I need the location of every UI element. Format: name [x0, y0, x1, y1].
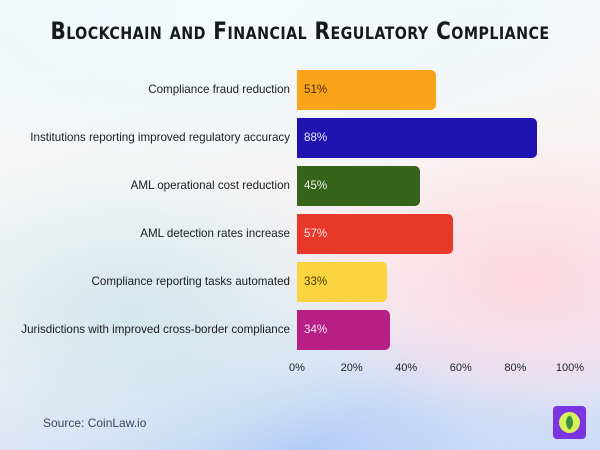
- infographic-canvas: Blockchain and Financial Regulatory Comp…: [0, 0, 600, 450]
- x-axis-tick-label: 40%: [395, 362, 417, 374]
- x-axis-tick-label: 60%: [450, 362, 472, 374]
- brand-logo[interactable]: [553, 406, 586, 439]
- bar-row: AML detection rates increase57%: [0, 214, 600, 254]
- bar-row: Institutions reporting improved regulato…: [0, 118, 600, 158]
- bar-value-label: 51%: [304, 70, 327, 110]
- bar-row: Compliance fraud reduction51%: [0, 70, 600, 110]
- bar-chart-plot-area: Compliance fraud reduction51%Institution…: [0, 70, 600, 358]
- x-axis: 0%20%40%60%80%100%: [0, 362, 600, 380]
- bar[interactable]: 33%: [297, 262, 387, 302]
- bar-value-label: 33%: [304, 262, 327, 302]
- bar[interactable]: 57%: [297, 214, 453, 254]
- x-axis-tick-label: 0%: [289, 362, 305, 374]
- bar[interactable]: 34%: [297, 310, 390, 350]
- bar-category-label: Institutions reporting improved regulato…: [30, 118, 290, 158]
- bar-row: Jurisdictions with improved cross-border…: [0, 310, 600, 350]
- bar-category-label: Jurisdictions with improved cross-border…: [21, 310, 290, 350]
- bar[interactable]: 45%: [297, 166, 420, 206]
- bar-category-label: Compliance reporting tasks automated: [92, 262, 291, 302]
- bar[interactable]: 88%: [297, 118, 537, 158]
- source-note: Source: CoinLaw.io: [43, 416, 146, 430]
- bar-value-label: 57%: [304, 214, 327, 254]
- bar-value-label: 88%: [304, 118, 327, 158]
- x-axis-tick-label: 80%: [504, 362, 526, 374]
- bar-category-label: Compliance fraud reduction: [148, 70, 290, 110]
- x-axis-tick-label: 20%: [341, 362, 363, 374]
- page-title: Blockchain and Financial Regulatory Comp…: [21, 17, 579, 45]
- bar-value-label: 34%: [304, 310, 327, 350]
- bar-value-label: 45%: [304, 166, 327, 206]
- bar-category-label: AML operational cost reduction: [131, 166, 290, 206]
- bar-row: AML operational cost reduction45%: [0, 166, 600, 206]
- bar[interactable]: 51%: [297, 70, 436, 110]
- bar-category-label: AML detection rates increase: [140, 214, 290, 254]
- x-axis-tick-label: 100%: [556, 362, 584, 374]
- bar-row: Compliance reporting tasks automated33%: [0, 262, 600, 302]
